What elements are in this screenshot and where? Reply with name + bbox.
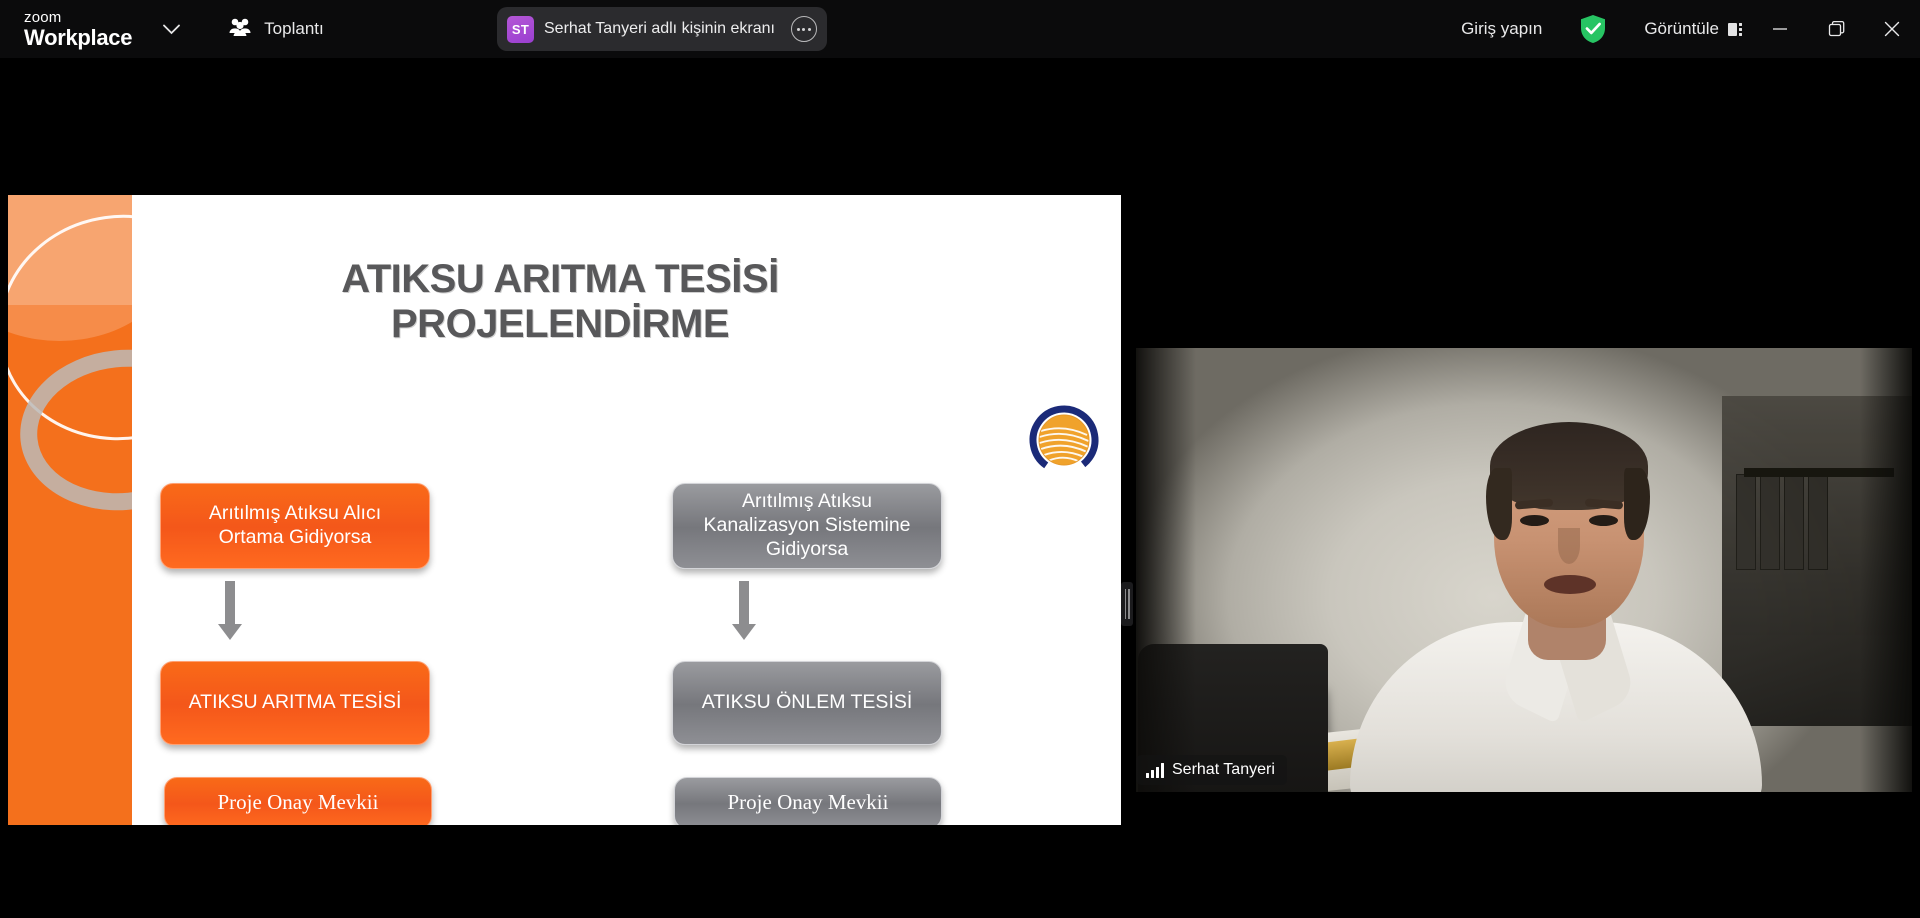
close-icon[interactable] <box>1864 0 1920 58</box>
slide-content-area: ATIKSU ARITMA TESİSİ PROJELENDİRME <box>132 195 1121 825</box>
sign-in-button[interactable]: Giriş yapın <box>1449 13 1554 45</box>
view-label: Görüntüle <box>1644 19 1719 39</box>
share-tab-title: Serhat Tanyeri adlı kişinin ekranı <box>544 20 775 38</box>
participant-video-tile[interactable] <box>1136 348 1912 792</box>
shield-check-icon[interactable] <box>1578 13 1608 45</box>
participant-person <box>1368 394 1740 792</box>
participant-name-badge: Serhat Tanyeri <box>1136 755 1287 785</box>
shared-screen-slide[interactable]: ATIKSU ARITMA TESİSİ PROJELENDİRME <box>8 195 1121 825</box>
layout-view-icon <box>1728 23 1742 36</box>
zoom-workplace-logo: zoom Workplace <box>24 10 132 49</box>
slide-title: ATIKSU ARITMA TESİSİ PROJELENDİRME <box>180 257 940 347</box>
people-group-icon <box>228 17 252 42</box>
maximize-restore-icon[interactable] <box>1808 0 1864 58</box>
brand-workplace-text: Workplace <box>24 27 132 49</box>
meeting-stage: ATIKSU ARITMA TESİSİ PROJELENDİRME <box>0 58 1920 918</box>
avatar: ST <box>507 16 534 43</box>
drag-handle-icon[interactable] <box>1121 582 1133 626</box>
globe-ring-logo <box>1024 400 1104 485</box>
window-controls-group: Giriş yapın Görüntüle <box>1449 0 1920 58</box>
flow-box-right-1[interactable]: Arıtılmış AtıksuKanalizasyon SistemineGi… <box>672 483 942 569</box>
flow-box-left-3[interactable]: Proje Onay Mevkii <box>164 777 432 825</box>
screen-share-tab[interactable]: ST Serhat Tanyeri adlı kişinin ekranı <box>497 7 827 51</box>
flow-box-right-2[interactable]: ATIKSU ÖNLEM TESİSİ <box>672 661 942 745</box>
more-options-icon[interactable] <box>791 16 817 42</box>
flow-box-left-1[interactable]: Arıtılmış Atıksu AlıcıOrtama Gidiyorsa <box>160 483 430 569</box>
flow-box-right-3[interactable]: Proje Onay Mevkii <box>674 777 942 825</box>
minimize-icon[interactable] <box>1752 0 1808 58</box>
flow-box-left-2[interactable]: ATIKSU ARITMA TESİSİ <box>160 661 430 745</box>
chevron-down-icon[interactable] <box>154 12 188 46</box>
down-arrow-icon <box>225 581 235 625</box>
slide-decorative-band <box>8 195 132 825</box>
view-button[interactable]: Görüntüle <box>1634 13 1752 45</box>
brand-zoom-text: zoom <box>24 10 132 25</box>
meeting-button[interactable]: Toplantı <box>218 11 334 48</box>
down-arrow-icon <box>739 581 749 625</box>
meeting-label: Toplantı <box>264 19 324 39</box>
title-bar: zoom Workplace Toplantı ST Serhat Tanyer… <box>0 0 1920 58</box>
audio-level-icon <box>1146 763 1164 778</box>
participant-name-label: Serhat Tanyeri <box>1172 761 1275 779</box>
